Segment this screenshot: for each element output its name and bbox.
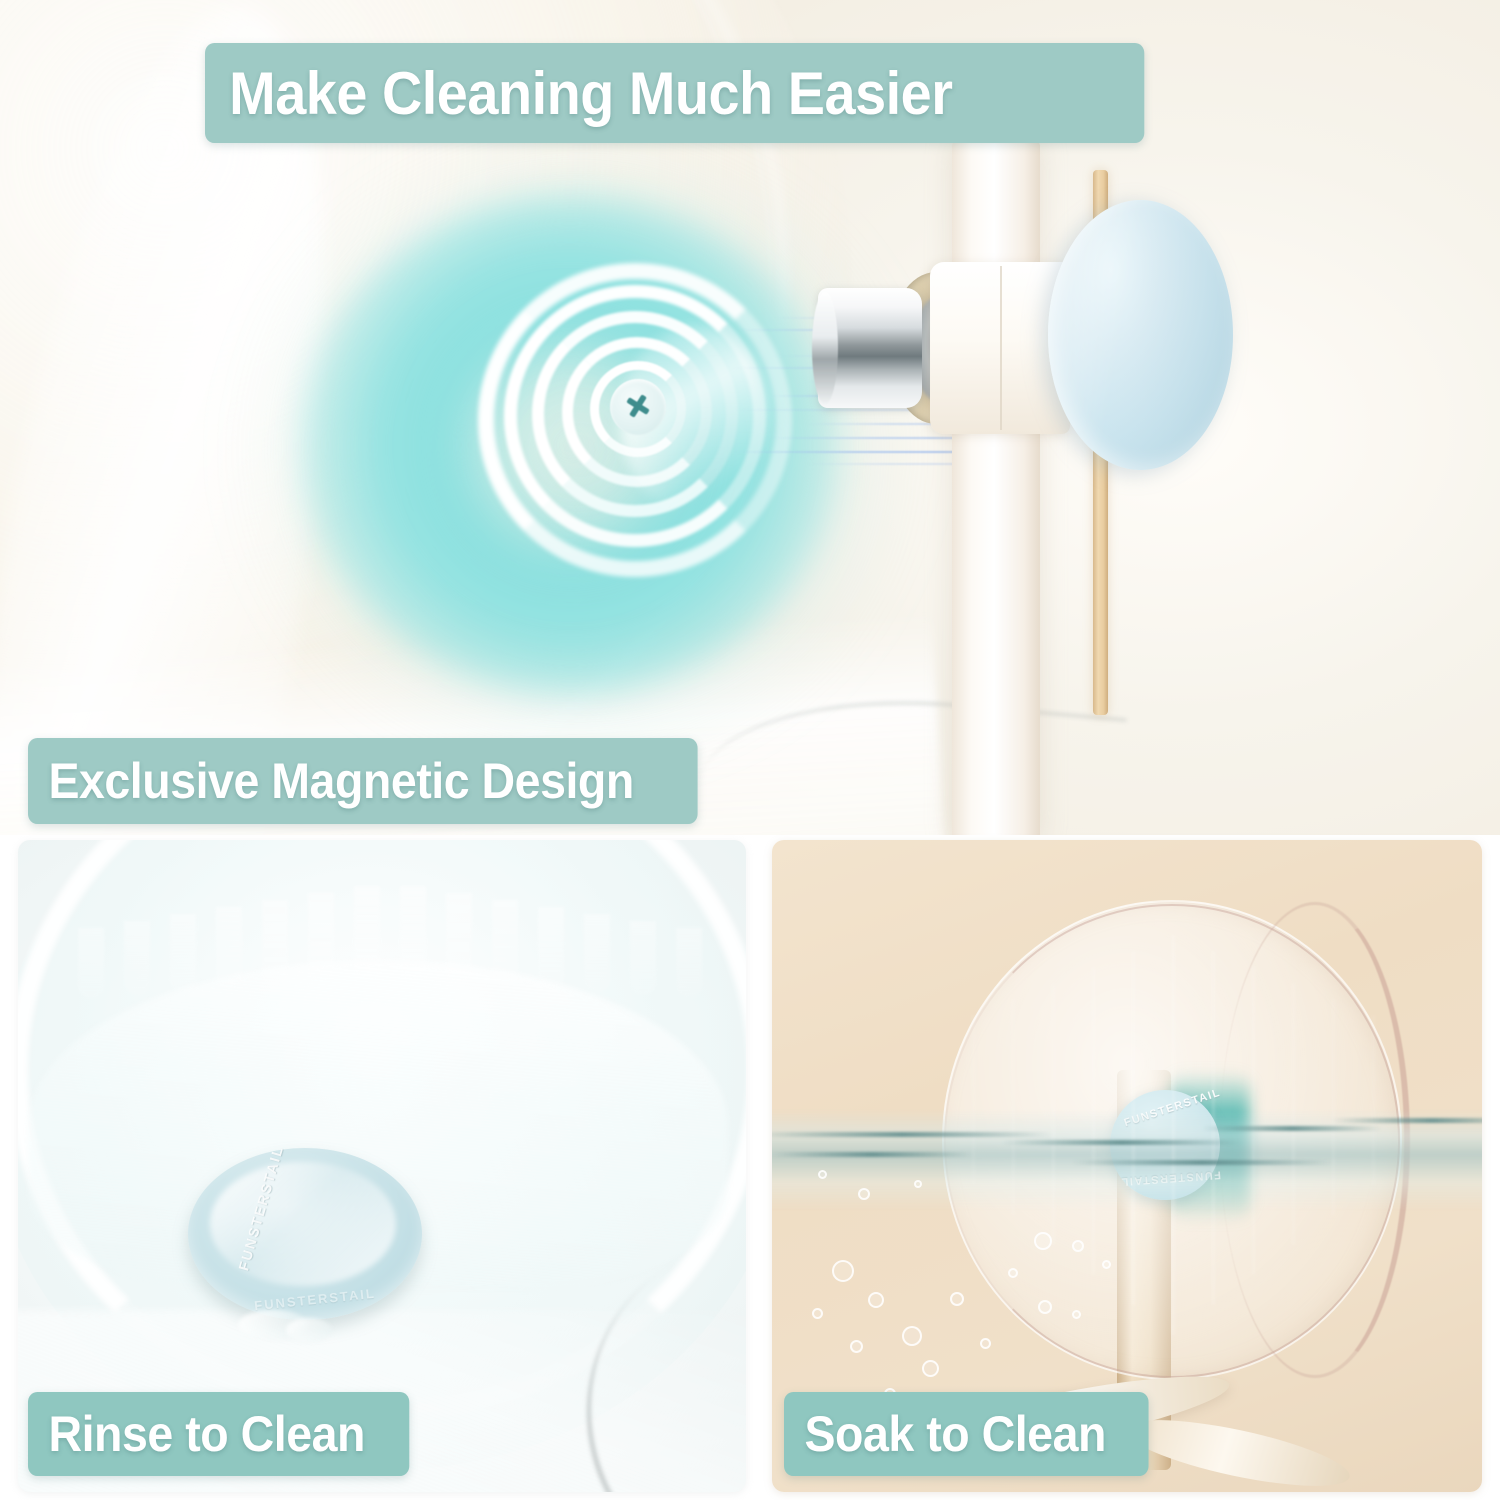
bowl-flute bbox=[400, 886, 426, 980]
water-bubble bbox=[818, 1170, 827, 1179]
water-bubble bbox=[1072, 1310, 1081, 1319]
disc-flute bbox=[1252, 967, 1256, 1275]
water-wave bbox=[1002, 1140, 1242, 1145]
label-soak-to-clean: Soak to Clean bbox=[784, 1392, 1149, 1476]
water-bubble bbox=[812, 1308, 823, 1319]
water-bubble bbox=[902, 1326, 922, 1346]
disc-flute bbox=[1092, 967, 1096, 1275]
magnet-disc-shading bbox=[1048, 200, 1233, 470]
bowl-flute bbox=[538, 907, 564, 989]
motion-streak bbox=[733, 451, 960, 453]
water-wave bbox=[772, 1152, 972, 1157]
bowl-flute bbox=[446, 893, 472, 983]
bowl-flute bbox=[170, 914, 196, 992]
pump-post bbox=[952, 140, 1040, 835]
disc-flute bbox=[972, 1015, 976, 1185]
bowl-flute bbox=[124, 921, 150, 995]
chrome-nozzle-cap bbox=[812, 292, 838, 404]
disc-flute bbox=[1332, 999, 1336, 1215]
infographic-canvas: FUNSTERSTAIL FUNSTERSTAIL FUNSTERSTAIL F… bbox=[0, 0, 1500, 1500]
bowl-flute bbox=[492, 900, 518, 986]
bowl-flute bbox=[584, 914, 610, 992]
water-wave bbox=[1072, 1160, 1332, 1165]
label-rinse-to-clean: Rinse to Clean bbox=[28, 1392, 409, 1476]
headline-banner: Make Cleaning Much Easier bbox=[205, 43, 1144, 143]
disc-flute bbox=[1132, 951, 1136, 1305]
bowl-flute bbox=[676, 928, 702, 998]
bowl-flute bbox=[354, 886, 380, 980]
bowl-flute bbox=[78, 928, 104, 998]
disc-flute bbox=[1012, 999, 1016, 1215]
motion-streak bbox=[806, 463, 960, 465]
water-bubble bbox=[980, 1338, 991, 1349]
water-bubble bbox=[832, 1260, 854, 1282]
disc-flute bbox=[1172, 935, 1176, 1335]
water-wave bbox=[772, 1132, 1052, 1137]
water-bubble bbox=[950, 1292, 964, 1306]
bowl-flute bbox=[216, 907, 242, 989]
water-bubble bbox=[1008, 1268, 1018, 1278]
water-bubble bbox=[1072, 1240, 1084, 1252]
water-bubble bbox=[1102, 1260, 1111, 1269]
bowl-flute bbox=[308, 893, 334, 983]
pump-arm-seam bbox=[1000, 266, 1002, 430]
bowl-flute bbox=[630, 921, 656, 995]
water-bubble bbox=[922, 1360, 939, 1377]
water-bubble bbox=[868, 1292, 884, 1308]
motion-streak bbox=[770, 437, 960, 439]
disc-flute bbox=[1292, 983, 1296, 1245]
water-bubble bbox=[858, 1188, 870, 1200]
water-wave bbox=[1202, 1126, 1382, 1131]
disc-flute bbox=[1052, 983, 1056, 1245]
label-exclusive-magnetic-design: Exclusive Magnetic Design bbox=[28, 738, 698, 824]
water-bubble bbox=[850, 1340, 863, 1353]
running-water-sheet bbox=[28, 960, 728, 1290]
water-bubble bbox=[1038, 1300, 1052, 1314]
stand-foot bbox=[1120, 1407, 1355, 1492]
disc-flute bbox=[1372, 1015, 1376, 1185]
water-bubble bbox=[1034, 1232, 1052, 1250]
water-wave bbox=[1332, 1118, 1482, 1123]
bowl-flute bbox=[262, 900, 288, 986]
water-bubble bbox=[914, 1180, 922, 1188]
